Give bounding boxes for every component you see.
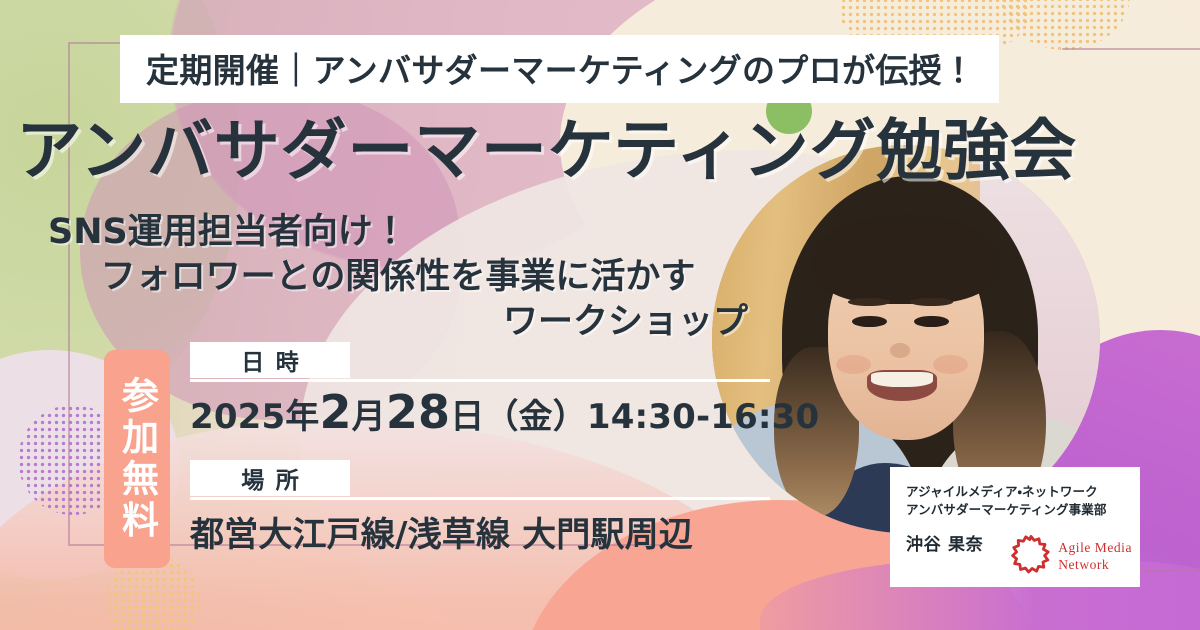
- datetime-month-unit: 月: [352, 397, 386, 437]
- photo-eyebrow-right: [910, 298, 953, 306]
- kicker-text: 定期開催｜アンバサダーマーケティングのプロが伝授！: [146, 44, 975, 92]
- page-title: アンバサダーマーケティング勉強会: [16, 97, 1077, 193]
- free-admission-badge-label: 参加無料: [119, 376, 156, 542]
- event-info-block: 日時 2025年2月28日（金）14:30-16:30 場所 都営大江戸線/浅草…: [190, 342, 770, 562]
- datetime-time: 14:30-16:30: [587, 397, 819, 437]
- datetime-label: 日時: [190, 342, 350, 378]
- datetime-year: 2025年: [190, 397, 319, 437]
- place-label-wrap: 場所: [190, 460, 770, 496]
- place-row: 場所 都営大江戸線/浅草線 大門駅周辺: [190, 460, 770, 556]
- logo-line-1: Agile Media: [1058, 540, 1132, 555]
- event-banner: 定期開催｜アンバサダーマーケティングのプロが伝授！ アンバサダーマーケティング勉…: [0, 0, 1200, 630]
- flower-burst-icon: [1011, 534, 1051, 579]
- photo-bangs: [813, 215, 999, 304]
- free-admission-badge: 参加無料: [104, 350, 170, 568]
- datetime-month-number: 2: [319, 385, 351, 439]
- kicker-ribbon: 定期開催｜アンバサダーマーケティングのプロが伝授！: [120, 35, 999, 103]
- photo-eye-left: [852, 316, 887, 328]
- speaker-company-line-1: アジャイルメディア・ネットワーク: [906, 483, 1140, 501]
- photo-eye-right: [914, 316, 949, 328]
- datetime-underline: [190, 379, 770, 382]
- logo-line-2: Network: [1058, 557, 1109, 572]
- speaker-company-line-2: アンバサダーマーケティング事業部: [906, 501, 1140, 519]
- datetime-value: 2025年2月28日（金）14:30-16:30: [190, 389, 770, 438]
- speaker-card: アジャイルメディア・ネットワーク アンバサダーマーケティング事業部 沖谷 果奈 …: [890, 467, 1140, 587]
- datetime-label-wrap: 日時: [190, 342, 770, 378]
- place-value: 都営大江戸線/浅草線 大門駅周辺: [190, 507, 770, 556]
- agile-media-network-wordmark: Agile Media Network: [1058, 540, 1132, 573]
- place-underline: [190, 497, 770, 500]
- datetime-day-unit: 日: [450, 397, 484, 437]
- photo-eyebrow-left: [848, 298, 891, 306]
- place-label: 場所: [190, 460, 350, 496]
- photo-cheek-right: [933, 355, 968, 374]
- subtitle-line-2: フォロワーとの関係性を事業に活かす: [48, 255, 748, 300]
- photo-mouth: [867, 370, 937, 401]
- subtitle-line-3: ワークショップ: [48, 300, 748, 345]
- subtitle-block: SNS運用担当者向け！ フォロワーとの関係性を事業に活かす ワークショップ: [48, 210, 748, 344]
- datetime-weekday: （金）: [484, 397, 587, 437]
- photo-cheek-left: [836, 355, 871, 374]
- photo-teeth: [871, 372, 932, 387]
- agile-media-network-logo: Agile Media Network: [1011, 534, 1132, 579]
- subtitle-line-1: SNS運用担当者向け！: [48, 210, 748, 255]
- datetime-row: 日時 2025年2月28日（金）14:30-16:30: [190, 342, 770, 438]
- datetime-day-number: 28: [386, 385, 450, 439]
